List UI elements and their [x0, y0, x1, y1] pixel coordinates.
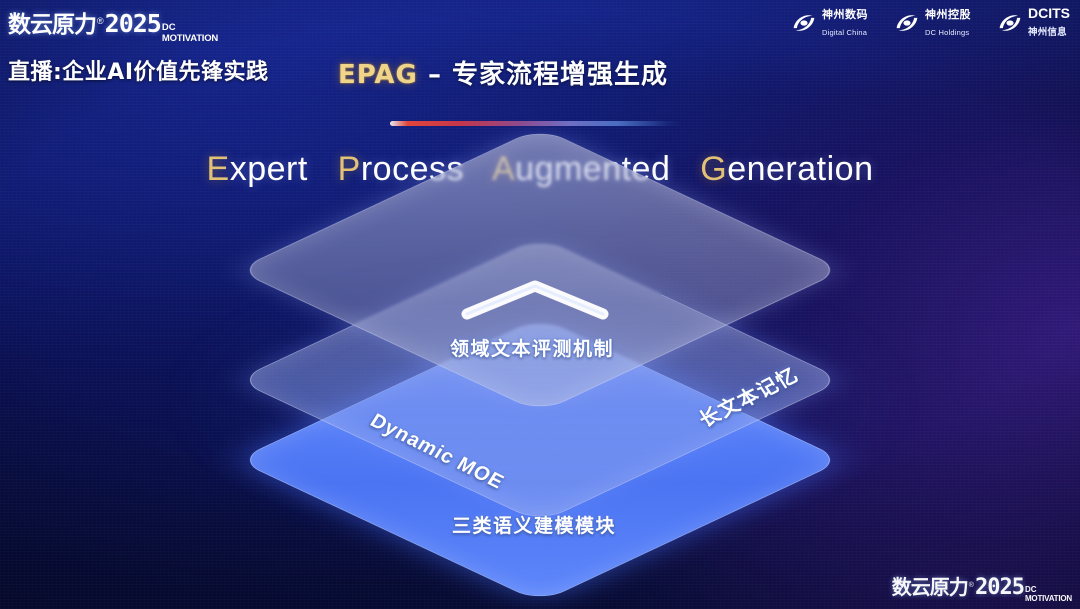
watermark-cn: 数云原力	[892, 571, 968, 600]
word-capital: E	[207, 150, 230, 188]
english-word-generation: Generation	[700, 150, 873, 188]
swirl-icon	[894, 12, 920, 34]
registered-mark: ®	[969, 582, 974, 589]
stack-label-bottom: 三类语义建模模块	[452, 511, 616, 538]
gradient-divider	[390, 121, 682, 126]
swirl-icon	[791, 12, 817, 34]
word-rest: eneration	[727, 150, 873, 188]
corp-logo-dcits: DCITS 神州信息	[997, 6, 1070, 40]
live-stream-title: 直播:企业AI价值先锋实践	[8, 54, 269, 86]
slide-title-chinese: – 专家流程增强生成	[428, 60, 668, 90]
watermark-logo: 数云原力 ® 2025 DC MOTIVATION	[892, 571, 1072, 605]
slide-title: EPAG – 专家流程增强生成	[338, 54, 668, 91]
word-capital: G	[700, 150, 727, 188]
corp-logo-text: 神州控股 DC Holdings	[925, 6, 971, 40]
english-word-expert: Expert	[207, 150, 308, 188]
corp-name-cn: 神州数码	[822, 8, 868, 21]
corp-name-en: DCITS	[1028, 5, 1070, 21]
corp-name-en: DC Holdings	[925, 28, 969, 37]
brand-logo-motivation: MOTIVATION	[162, 34, 218, 44]
brand-logo: 数云原力 ® 2025 DC MOTIVATION	[8, 5, 218, 45]
slide-title-acronym: EPAG	[338, 60, 418, 90]
brand-logo-year: 2025	[105, 9, 161, 38]
brand-logo-dc: DC	[162, 23, 218, 33]
watermark-year: 2025	[975, 575, 1024, 600]
watermark-dc: DC	[1025, 586, 1072, 594]
word-rest: xpert	[230, 150, 308, 188]
corporate-logo-row: 神州数码 Digital China 神州控股 DC Holdings	[791, 6, 1070, 40]
swirl-icon	[997, 12, 1023, 34]
corp-logo-text: 神州数码 Digital China	[822, 6, 868, 40]
watermark-motivation: MOTIVATION	[1025, 595, 1072, 603]
corp-logo-dc-holdings: 神州控股 DC Holdings	[894, 6, 971, 40]
corp-logo-digital-china: 神州数码 Digital China	[791, 6, 868, 40]
stack-label-top: 领域文本评测机制	[450, 334, 614, 361]
watermark-dc-motivation: DC MOTIVATION	[1025, 586, 1072, 603]
corp-logo-text: DCITS 神州信息	[1028, 6, 1070, 40]
word-capital: P	[338, 150, 361, 188]
brand-logo-cn: 数云原力	[8, 5, 96, 39]
corp-name-cn: 神州信息	[1028, 27, 1067, 38]
corp-name-en: Digital China	[822, 28, 867, 37]
corp-name-cn: 神州控股	[925, 8, 971, 21]
registered-mark: ®	[97, 16, 104, 26]
slide-canvas: 数云原力 ® 2025 DC MOTIVATION 直播:企业AI价值先锋实践 …	[0, 0, 1080, 609]
space	[318, 150, 328, 188]
brand-logo-dc-motivation: DC MOTIVATION	[162, 23, 218, 43]
chevron-up-icon	[459, 277, 611, 321]
space	[680, 150, 690, 188]
